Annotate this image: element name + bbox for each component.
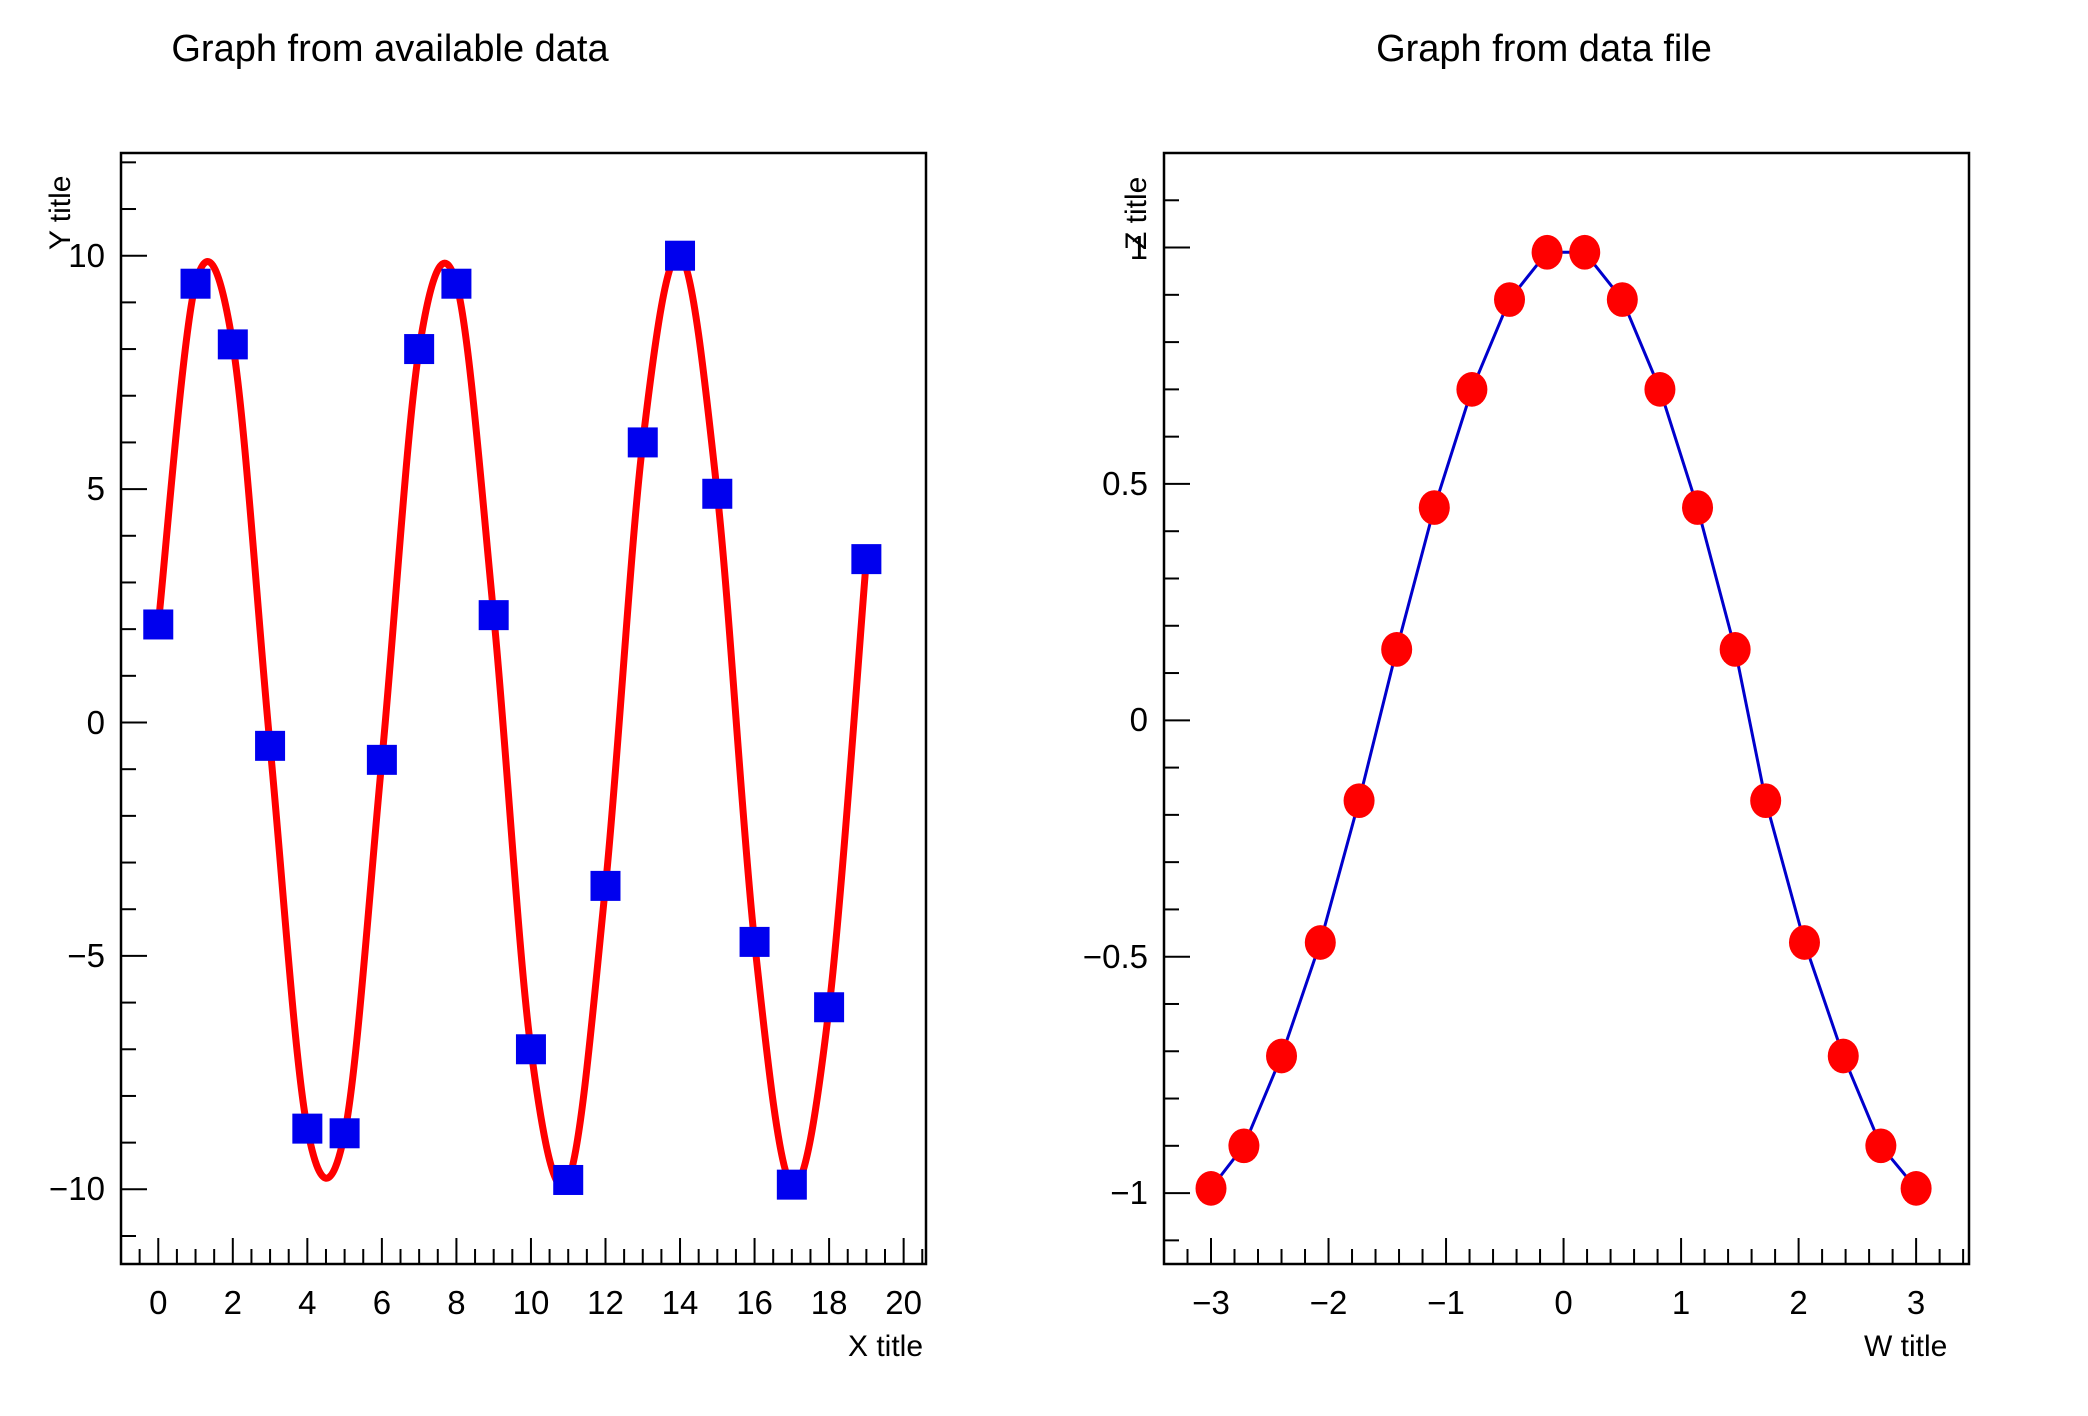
x-tick-label: 2 — [224, 1284, 242, 1322]
data-point-marker — [702, 479, 732, 509]
data-point-marker — [553, 1165, 583, 1195]
right-plot-graphics — [1044, 0, 2088, 1416]
data-point-marker — [516, 1034, 546, 1064]
data-point-marker — [367, 745, 397, 775]
data-point-marker — [1494, 282, 1525, 317]
data-point-marker — [1266, 1039, 1297, 1074]
x-tick-label: 8 — [447, 1284, 465, 1322]
x-tick-label: 14 — [662, 1284, 699, 1322]
left-x-axis-title: X title — [848, 1330, 923, 1364]
y-tick-label: −5 — [67, 937, 105, 975]
data-point-marker — [1532, 235, 1563, 270]
data-point-marker — [1196, 1171, 1227, 1206]
data-point-marker — [1456, 372, 1487, 407]
data-point-marker — [1901, 1171, 1932, 1206]
data-point-marker — [628, 427, 658, 457]
x-tick-label: −2 — [1310, 1284, 1348, 1322]
data-point-marker — [590, 871, 620, 901]
data-point-marker — [1720, 632, 1751, 667]
y-tick-label: 0.5 — [1102, 465, 1148, 503]
data-point-marker — [814, 992, 844, 1022]
data-point-marker — [1607, 282, 1638, 317]
data-point-marker — [255, 731, 285, 761]
x-tick-label: 2 — [1789, 1284, 1807, 1322]
y-tick-label: −0.5 — [1083, 938, 1148, 976]
data-point-marker — [479, 600, 509, 630]
x-tick-label: −3 — [1192, 1284, 1230, 1322]
left-plot-graphics — [0, 0, 1044, 1416]
y-tick-label: 10 — [68, 237, 105, 275]
x-tick-label: 0 — [149, 1284, 167, 1322]
x-tick-label: 16 — [736, 1284, 773, 1322]
x-tick-label: −1 — [1427, 1284, 1465, 1322]
data-point-marker — [740, 927, 770, 957]
pad-left: Graph from available data Y title X titl… — [0, 0, 1044, 1416]
data-point-marker — [1228, 1128, 1259, 1163]
data-point-marker — [665, 241, 695, 271]
data-point-marker — [851, 544, 881, 574]
x-tick-label: 6 — [373, 1284, 391, 1322]
data-point-marker — [1682, 490, 1713, 525]
root-canvas: Graph from available data Y title X titl… — [0, 0, 2088, 1416]
data-point-marker — [1750, 783, 1781, 818]
y-tick-label: −1 — [1110, 1174, 1148, 1212]
data-point-marker — [1789, 925, 1820, 960]
x-tick-label: 12 — [587, 1284, 624, 1322]
data-point-marker — [1344, 783, 1375, 818]
data-point-marker — [1569, 235, 1600, 270]
y-tick-label: 5 — [87, 470, 105, 508]
data-point-marker — [1644, 372, 1675, 407]
data-point-marker — [1381, 632, 1412, 667]
data-point-marker — [292, 1114, 322, 1144]
pad-right: Graph from data file Z title W title −3−… — [1044, 0, 2088, 1416]
data-point-marker — [777, 1170, 807, 1200]
right-x-axis-title: W title — [1864, 1330, 1947, 1364]
x-tick-label: 3 — [1907, 1284, 1925, 1322]
data-point-marker — [404, 334, 434, 364]
x-tick-label: 18 — [811, 1284, 848, 1322]
y-tick-label: 0 — [1130, 701, 1148, 739]
x-tick-label: 1 — [1672, 1284, 1690, 1322]
x-tick-label: 4 — [298, 1284, 316, 1322]
data-point-marker — [1305, 925, 1336, 960]
y-tick-label: −10 — [49, 1170, 105, 1208]
data-point-marker — [143, 609, 173, 639]
x-tick-label: 0 — [1554, 1284, 1572, 1322]
data-point-marker — [441, 269, 471, 299]
data-point-marker — [1865, 1128, 1896, 1163]
y-tick-label: 0 — [87, 704, 105, 742]
x-tick-label: 10 — [513, 1284, 550, 1322]
x-tick-label: 20 — [885, 1284, 922, 1322]
data-point-marker — [1419, 490, 1450, 525]
y-tick-label: 1 — [1130, 229, 1148, 267]
data-point-marker — [330, 1118, 360, 1148]
data-point-marker — [218, 329, 248, 359]
data-point-marker — [181, 269, 211, 299]
data-point-marker — [1828, 1039, 1859, 1074]
